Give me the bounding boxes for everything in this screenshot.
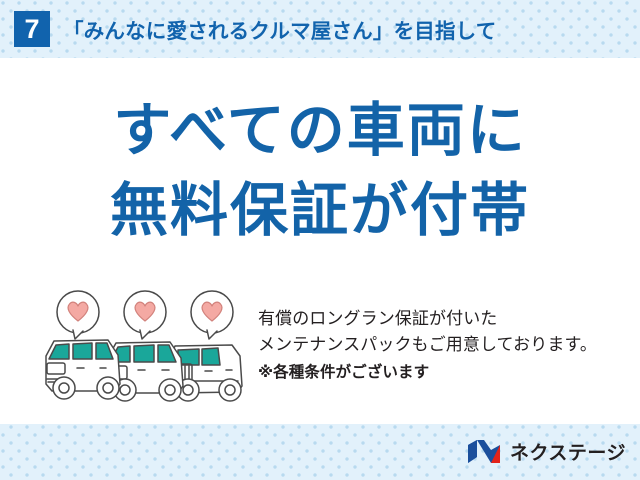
- headline-line-2: 無料保証が付帯: [0, 182, 640, 240]
- body-copy-note: ※各種条件がございます: [258, 361, 630, 385]
- body-copy-line-1: 有償のロングラン保証が付いた: [258, 306, 630, 332]
- heart-bubble-2: [124, 291, 166, 339]
- heart-bubble-3: [191, 291, 233, 339]
- heart-bubble-1: [57, 291, 99, 339]
- cars-illustration-svg: [42, 286, 252, 414]
- brand-logo-text: ネクステージ: [510, 438, 626, 465]
- footer-bar: ネクステージ: [0, 424, 640, 480]
- body-copy-line-2: メンテナンスパックもご用意しております。: [258, 332, 630, 358]
- header-title: 「みんなに愛されるクルマ屋さん」を目指して: [63, 14, 496, 44]
- headline-line-1: すべての車両に: [0, 102, 640, 160]
- brand-logo: ネクステージ: [467, 437, 626, 465]
- three-cars-with-heart-bubbles-illustration: [42, 286, 252, 414]
- headline: すべての車両に 無料保証が付帯: [0, 102, 640, 240]
- car-kei-van: [46, 340, 120, 399]
- lower-section: 有償のロングラン保証が付いた メンテナンスパックもご用意しております。 ※各種条…: [0, 286, 640, 424]
- advertisement-banner: 7 「みんなに愛されるクルマ屋さん」を目指して すべての車両に 無料保証が付帯: [0, 0, 640, 480]
- body-copy: 有償のロングラン保証が付いた メンテナンスパックもご用意しております。 ※各種条…: [258, 306, 630, 385]
- nextage-n-mark-icon: [467, 439, 501, 464]
- step-number-badge: 7: [14, 11, 50, 47]
- header-bar: 7 「みんなに愛されるクルマ屋さん」を目指して: [0, 0, 640, 58]
- content-panel: すべての車両に 無料保証が付帯: [0, 58, 640, 424]
